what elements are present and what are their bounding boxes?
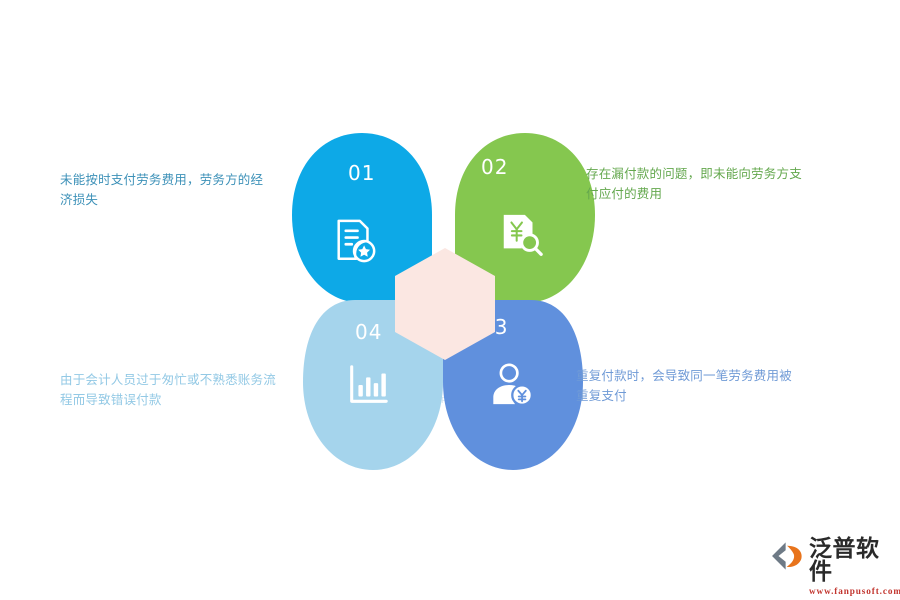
- petal-02-number: 02: [481, 155, 508, 179]
- infographic-canvas: 泛普软件 FANPU SOFTWARE 01 02: [0, 0, 900, 600]
- brand-logo[interactable]: 泛普软件 www.fanpusoft.com: [770, 537, 890, 585]
- petal-03-label: 重复付款时，会导致同一笔劳务费用被重复支付: [576, 366, 794, 407]
- invoice-yuan-search-icon: [498, 211, 544, 257]
- bar-chart-icon: [345, 362, 391, 408]
- petal-02-label: 存在漏付款的问题，即未能向劳务方支付应付的费用: [586, 164, 804, 205]
- certificate-document-icon: [332, 218, 378, 264]
- brand-url: www.fanpusoft.com: [809, 587, 900, 596]
- petal-04-number: 04: [355, 320, 382, 344]
- center-hexagon: [392, 246, 498, 362]
- person-yuan-coin-icon: [489, 362, 535, 408]
- petal-01-number: 01: [348, 161, 375, 185]
- petal-01-label: 未能按时支付劳务费用，劳务方的经济损失: [60, 170, 270, 211]
- fanpu-leaf-icon: [770, 539, 804, 573]
- brand-name-cn: 泛普软件: [809, 537, 900, 583]
- petal-04-label: 由于会计人员过于匆忙或不熟悉账务流程而导致错误付款: [60, 370, 282, 411]
